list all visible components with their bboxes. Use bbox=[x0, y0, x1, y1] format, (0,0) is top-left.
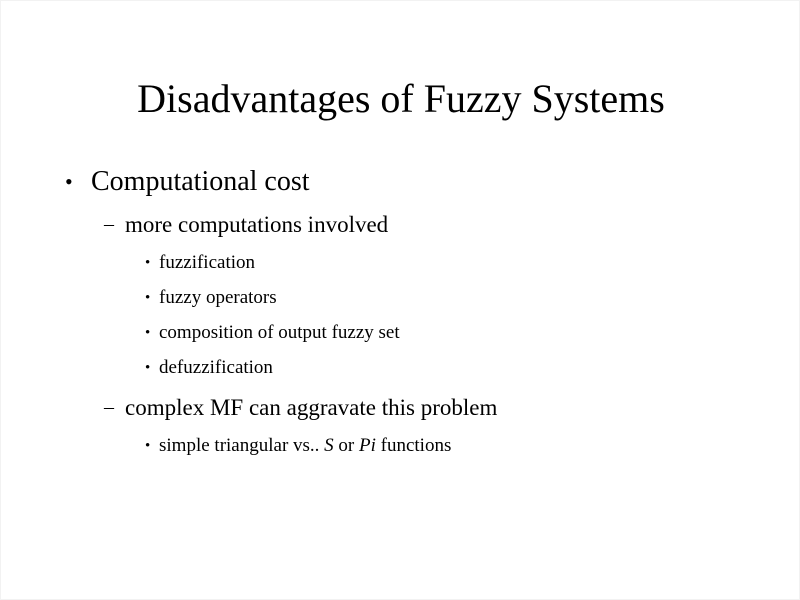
outline-item-level3: • simple triangular vs.. S or Pi functio… bbox=[1, 434, 800, 458]
outline-item-label: defuzzification bbox=[159, 356, 273, 380]
outline-item-label: complex MF can aggravate this problem bbox=[125, 393, 497, 422]
outline-item-label: more computations involved bbox=[125, 210, 388, 239]
outline-item-label: composition of output fuzzy set bbox=[159, 321, 400, 345]
outline-item-level3: • defuzzification bbox=[1, 356, 800, 380]
outline-item-level2: – complex MF can aggravate this problem bbox=[1, 393, 800, 422]
outline-item-label: fuzzy operators bbox=[159, 286, 277, 310]
outline-body: • Computational cost – more computations… bbox=[1, 165, 800, 469]
label-segment-tail: functions bbox=[376, 435, 451, 456]
bullet-dot-icon: • bbox=[145, 321, 150, 345]
outline-item-level2: – more computations involved bbox=[1, 210, 800, 239]
bullet-dot-icon: • bbox=[145, 434, 150, 458]
outline-item-label: simple triangular vs.. S or Pi functions bbox=[159, 434, 451, 458]
page-title: Disadvantages of Fuzzy Systems bbox=[1, 75, 800, 123]
label-segment-italic-s: S bbox=[324, 435, 334, 456]
dash-icon: – bbox=[104, 393, 114, 422]
bullet-dot-icon: • bbox=[145, 251, 150, 275]
outline-item-label: fuzzification bbox=[159, 251, 255, 275]
bullet-dot-icon: • bbox=[65, 165, 73, 199]
outline-item-level3: • composition of output fuzzy set bbox=[1, 321, 800, 345]
label-segment-mid: or bbox=[334, 435, 359, 456]
outline-item-level3: • fuzzification bbox=[1, 251, 800, 275]
outline-item-level3: • fuzzy operators bbox=[1, 286, 800, 310]
label-segment-italic-pi: Pi bbox=[359, 435, 376, 456]
slide-canvas: Disadvantages of Fuzzy Systems • Computa… bbox=[0, 0, 800, 600]
outline-item-level1: • Computational cost bbox=[1, 165, 800, 199]
outline-item-label: Computational cost bbox=[91, 165, 310, 199]
bullet-dot-icon: • bbox=[145, 356, 150, 380]
dash-icon: – bbox=[104, 210, 114, 239]
bullet-dot-icon: • bbox=[145, 286, 150, 310]
label-segment-lead: simple triangular vs.. bbox=[159, 435, 324, 456]
